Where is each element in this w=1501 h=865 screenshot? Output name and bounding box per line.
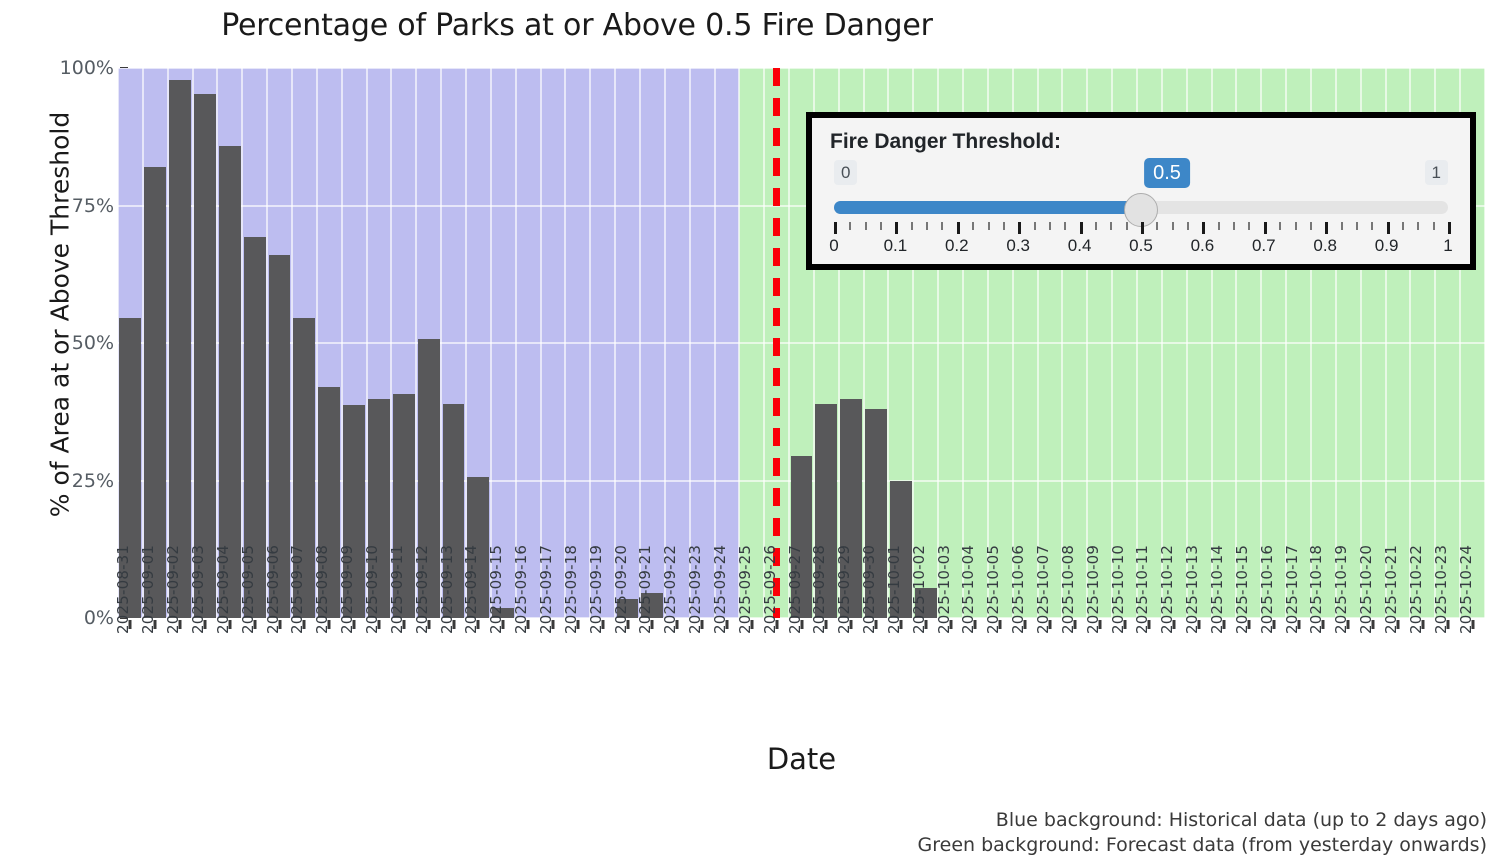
slider-tickmark (1356, 222, 1358, 230)
y-axis-tick-label: 100% (36, 57, 114, 79)
slider-tickmark (1156, 222, 1158, 230)
x-axis-tick-label: 2025-10-08 (1059, 545, 1075, 634)
x-axis-tick-label: 2025-09-15 (487, 545, 503, 634)
slider-tickmark (895, 222, 898, 234)
slider-title: Fire Danger Threshold: (830, 130, 1454, 154)
slider-tickmark (1110, 222, 1112, 230)
slider-tickmark (941, 222, 943, 230)
x-axis-tick-label: 2025-09-11 (388, 545, 404, 634)
slider-tick-label: 0.1 (884, 236, 908, 256)
footnote-forecast: Green background: Forecast data (from ye… (918, 833, 1487, 857)
x-axis-tick-label: 2025-10-13 (1183, 545, 1199, 634)
slider-tickmark (880, 222, 882, 230)
x-axis-tick-label: 2025-10-09 (1084, 545, 1100, 634)
slider-tick-label: 0 (829, 236, 838, 256)
slider-tickmarks (834, 222, 1448, 234)
y-axis-tick-label: 25% (36, 470, 114, 492)
x-axis-tick-label: 2025-10-12 (1158, 545, 1174, 634)
slider-tickmark (1049, 222, 1051, 230)
slider-tickmark (1264, 222, 1267, 234)
gridline-horizontal (118, 342, 1485, 344)
x-axis-title: Date (118, 742, 1485, 776)
x-axis-tick-label: 2025-10-22 (1407, 545, 1423, 634)
x-axis-tick-label: 2025-09-22 (661, 545, 677, 634)
x-axis-tick-label: 2025-09-08 (313, 545, 329, 634)
bar (194, 94, 216, 618)
slider-tickmark (1448, 222, 1451, 234)
x-axis-tick-label: 2025-09-17 (537, 545, 553, 634)
x-axis-tick-label: 2025-09-07 (288, 545, 304, 634)
slider-tick-label: 1 (1443, 236, 1452, 256)
slider-track-fill (834, 201, 1141, 214)
slider-tick-label: 0.3 (1006, 236, 1030, 256)
slider-tickmark (1095, 222, 1097, 230)
x-axis-tick-label: 2025-10-10 (1109, 545, 1125, 634)
slider-tickmark (849, 222, 851, 230)
slider-tickmark (1126, 222, 1128, 230)
x-axis-tick-label: 2025-09-14 (462, 545, 478, 634)
x-axis-tick-label: 2025-10-14 (1208, 545, 1224, 634)
x-axis-tick-label: 2025-10-24 (1457, 545, 1473, 634)
x-axis-tick-label: 2025-10-20 (1357, 545, 1373, 634)
slider-tickmark (957, 222, 960, 234)
slider-tickmark (1218, 222, 1220, 230)
slider-tickmark (911, 222, 913, 230)
slider-tick-label: 0.7 (1252, 236, 1276, 256)
slider-tickmark (1172, 222, 1174, 230)
x-axis-tick-label: 2025-10-07 (1034, 545, 1050, 634)
x-axis-tick-label: 2025-10-03 (935, 545, 951, 634)
slider-tickmark (1341, 222, 1343, 230)
slider-max-label: 1 (1425, 160, 1448, 185)
slider-tick-label: 0.5 (1129, 236, 1153, 256)
x-axis-tick-label: 2025-08-31 (114, 545, 130, 634)
slider-tickmark (972, 222, 974, 230)
slider-tick-labels: 00.10.20.30.40.50.60.70.80.91 (834, 236, 1448, 260)
x-axis-tick-label: 2025-09-12 (413, 545, 429, 634)
slider-tick-label: 0.4 (1068, 236, 1092, 256)
x-axis-tick-label: 2025-09-18 (562, 545, 578, 634)
slider-tick-label: 0.8 (1313, 236, 1337, 256)
slider-tick-label: 0.6 (1191, 236, 1215, 256)
y-axis-tick-label: 75% (36, 195, 114, 217)
slider-tickmark (926, 222, 928, 230)
x-axis-tick-label: 2025-10-17 (1283, 545, 1299, 634)
x-axis-tick-label: 2025-09-10 (363, 545, 379, 634)
x-axis-tick-label: 2025-10-19 (1332, 545, 1348, 634)
page-title: Percentage of Parks at or Above 0.5 Fire… (118, 8, 1036, 43)
x-axis-tick-label: 2025-10-11 (1133, 545, 1149, 634)
x-axis-tick-label: 2025-09-09 (338, 545, 354, 634)
slider-endpoints: 0 0.5 1 (828, 160, 1454, 190)
slider-tickmark (1003, 222, 1005, 230)
x-axis-tick-label: 2025-10-18 (1307, 545, 1323, 634)
x-axis-tick-label: 2025-09-16 (512, 545, 528, 634)
x-axis-tick-label: 2025-09-20 (612, 545, 628, 634)
slider-tickmark (1371, 222, 1373, 230)
x-axis-tick-label: 2025-10-05 (984, 545, 1000, 634)
x-axis-tick-label: 2025-09-23 (686, 545, 702, 634)
x-axis-tick-label: 2025-09-29 (835, 545, 851, 634)
fire-danger-threshold-panel[interactable]: Fire Danger Threshold: 0 0.5 1 00.10.20.… (806, 112, 1476, 270)
bar (169, 80, 191, 618)
slider-tickmark (1310, 222, 1312, 230)
y-axis-tick-label: 0% (36, 607, 114, 629)
slider-tickmark (1325, 222, 1328, 234)
slider-tickmark (1064, 222, 1066, 230)
x-axis-tick-label: 2025-10-23 (1432, 545, 1448, 634)
x-axis-tick-label: 2025-09-04 (214, 545, 230, 634)
x-axis-tick-label: 2025-09-26 (761, 545, 777, 634)
slider-tickmark (1295, 222, 1297, 230)
x-axis-tick-label: 2025-09-01 (139, 545, 155, 634)
slider-tickmark (1018, 222, 1021, 234)
x-axis-tick-label: 2025-09-24 (711, 545, 727, 634)
x-axis-tick-label: 2025-09-25 (736, 545, 752, 634)
x-axis-tick-label: 2025-09-27 (786, 545, 802, 634)
fire-danger-chart: Percentage of Parks at or Above 0.5 Fire… (0, 0, 1501, 865)
slider-track-area[interactable] (834, 194, 1448, 220)
x-axis-tick-label: 2025-10-16 (1258, 545, 1274, 634)
current-day-marker-line (773, 68, 780, 618)
x-axis-tick-label: 2025-10-04 (959, 545, 975, 634)
x-axis-tick-label: 2025-09-06 (264, 545, 280, 634)
background-legend-notes: Blue background: Historical data (up to … (918, 808, 1487, 857)
slider-tick-label: 0.9 (1375, 236, 1399, 256)
slider-tickmark (1202, 222, 1205, 234)
x-axis-tick-label: 2025-10-21 (1382, 545, 1398, 634)
slider-tickmark (1141, 222, 1144, 234)
x-axis-tick-label: 2025-09-21 (636, 545, 652, 634)
slider-tickmark (865, 222, 867, 230)
x-axis-tick-label: 2025-09-30 (860, 545, 876, 634)
slider-tickmark (1417, 222, 1419, 230)
slider-tickmark (1433, 222, 1435, 230)
x-axis-tick-label: 2025-09-28 (810, 545, 826, 634)
slider-value-bubble: 0.5 (1144, 158, 1190, 188)
x-axis-tick-label: 2025-09-19 (587, 545, 603, 634)
x-axis-tick-label: 2025-10-01 (885, 545, 901, 634)
x-axis-tick-label: 2025-09-02 (164, 545, 180, 634)
slider-tickmark (1402, 222, 1404, 230)
x-axis-tick-label: 2025-09-05 (239, 545, 255, 634)
slider-tick-label: 0.2 (945, 236, 969, 256)
x-axis-tick-label: 2025-10-06 (1009, 545, 1025, 634)
y-axis-ticks: 0%25%50%75%100% (20, 0, 114, 865)
y-axis-tick-label: 50% (36, 332, 114, 354)
slider-tickmark (1233, 222, 1235, 230)
slider-tickmark (1248, 222, 1250, 230)
x-axis-tick-labels: 2025-08-312025-09-012025-09-022025-09-03… (118, 634, 1485, 744)
gridline-horizontal (118, 68, 1485, 69)
slider-tickmark (1187, 222, 1189, 230)
slider-tickmark (988, 222, 990, 230)
x-axis-tick-label: 2025-10-15 (1233, 545, 1249, 634)
slider-min-label: 0 (834, 160, 857, 185)
slider-tickmark (1279, 222, 1281, 230)
slider-tickmark (834, 222, 837, 234)
slider-tickmark (1034, 222, 1036, 230)
x-axis-tick-label: 2025-09-03 (189, 545, 205, 634)
x-axis-tick-label: 2025-09-13 (438, 545, 454, 634)
slider-tickmark (1387, 222, 1390, 234)
slider-tickmark (1080, 222, 1083, 234)
footnote-historical: Blue background: Historical data (up to … (918, 808, 1487, 832)
x-axis-tick-label: 2025-10-02 (910, 545, 926, 634)
